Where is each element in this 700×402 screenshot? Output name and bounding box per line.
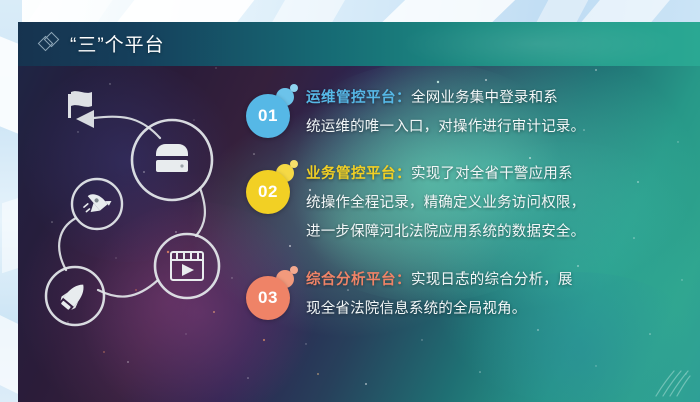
block-line: 现全省法院信息系统的全局视角。 bbox=[306, 295, 686, 324]
missile-node bbox=[46, 267, 104, 325]
badge-number: 03 bbox=[246, 276, 290, 320]
content-block: 01 运维管控平台：全网业务集中登录和系 统运维的唯一入口，对操作进行审计记录。 bbox=[246, 84, 686, 152]
connected-icon-flow-diagram bbox=[32, 84, 242, 344]
page-title: “三”个平台 bbox=[70, 30, 165, 57]
rocket-icon bbox=[79, 186, 112, 219]
missile-icon bbox=[58, 279, 90, 313]
status-badge: 02 bbox=[246, 160, 302, 216]
server-icon bbox=[156, 144, 188, 172]
slide-root: “三”个平台 bbox=[0, 0, 700, 402]
arrow-head-icon bbox=[76, 110, 94, 128]
slide-canvas: “三”个平台 bbox=[18, 22, 700, 402]
status-badge: 01 bbox=[246, 84, 302, 140]
content-block: 03 综合分析平台：实现日志的综合分析，展 现全省法院信息系统的全局视角。 bbox=[246, 266, 686, 334]
block-line: 运维管控平台：全网业务集中登录和系 bbox=[306, 84, 686, 113]
block-heading: 综合分析平台： bbox=[306, 272, 411, 288]
block-line: 进一步保障河北法院应用系统的数据安全。 bbox=[306, 218, 686, 247]
corner-watermark bbox=[650, 368, 694, 398]
content-block-list: 01 运维管控平台：全网业务集中登录和系 统运维的唯一入口，对操作进行审计记录。… bbox=[246, 84, 686, 340]
content-block: 02 业务管控平台：实现了对全省干警应用系 统操作全程记录，精确定义业务访问权限… bbox=[246, 160, 686, 258]
block-text: 业务管控平台：实现了对全省干警应用系 统操作全程记录，精确定义业务访问权限， 进… bbox=[306, 160, 686, 247]
block-line: 统运维的唯一入口，对操作进行审计记录。 bbox=[306, 113, 686, 142]
block-heading: 业务管控平台： bbox=[306, 166, 411, 182]
video-player-icon bbox=[171, 252, 203, 280]
play-icon bbox=[182, 264, 194, 276]
block-line-text: 全网业务集中登录和系 bbox=[411, 90, 558, 106]
badge-number: 01 bbox=[246, 94, 290, 138]
block-text: 运维管控平台：全网业务集中登录和系 统运维的唯一入口，对操作进行审计记录。 bbox=[306, 84, 686, 142]
server-node bbox=[132, 120, 212, 200]
block-line-text: 实现日志的综合分析，展 bbox=[411, 272, 573, 288]
block-line: 综合分析平台：实现日志的综合分析，展 bbox=[306, 266, 686, 295]
block-heading: 运维管控平台： bbox=[306, 90, 411, 106]
block-line: 业务管控平台：实现了对全省干警应用系 bbox=[306, 160, 686, 189]
status-badge: 03 bbox=[246, 266, 302, 322]
rocket-node bbox=[72, 179, 122, 229]
video-node bbox=[155, 234, 219, 298]
double-diamond-icon bbox=[40, 34, 60, 54]
block-line-text: 实现了对全省干警应用系 bbox=[411, 166, 573, 182]
block-text: 综合分析平台：实现日志的综合分析，展 现全省法院信息系统的全局视角。 bbox=[306, 266, 686, 324]
block-line: 统操作全程记录，精确定义业务访问权限， bbox=[306, 189, 686, 218]
badge-number: 02 bbox=[246, 170, 290, 214]
slide-header: “三”个平台 bbox=[40, 30, 165, 57]
